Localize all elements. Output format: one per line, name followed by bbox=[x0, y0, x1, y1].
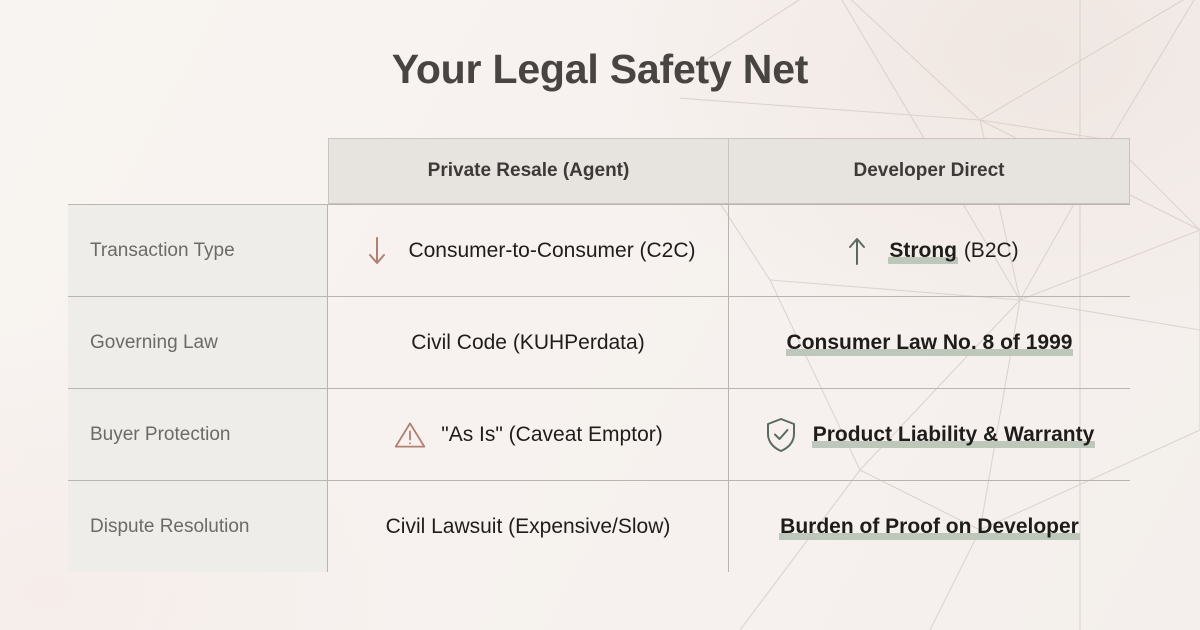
cell-emphasis: Burden of Proof on Developer bbox=[779, 515, 1080, 539]
table-row: Buyer Protection "As Is" (Caveat Emptor) bbox=[68, 388, 1130, 480]
cell-private-resale-transaction-type: Consumer-to-Consumer (C2C) bbox=[328, 205, 729, 296]
cell-text: Consumer-to-Consumer (C2C) bbox=[408, 239, 695, 263]
cell-developer-direct-buyer-protection: Product Liability & Warranty bbox=[729, 389, 1130, 480]
cell-private-resale-buyer-protection: "As Is" (Caveat Emptor) bbox=[328, 389, 729, 480]
cell-emphasis: Product Liability & Warranty bbox=[812, 423, 1096, 447]
cell-developer-direct-dispute-resolution: Burden of Proof on Developer bbox=[729, 481, 1130, 572]
cell-text: Civil Lawsuit (Expensive/Slow) bbox=[386, 515, 671, 539]
table-header-private-resale: Private Resale (Agent) bbox=[328, 138, 729, 204]
row-label-governing-law: Governing Law bbox=[68, 297, 328, 388]
page-title: Your Legal Safety Net bbox=[0, 46, 1200, 93]
cell-suffix: (B2C) bbox=[958, 239, 1019, 262]
table-header-row: Private Resale (Agent) Developer Direct bbox=[68, 138, 1130, 204]
row-label-dispute-resolution: Dispute Resolution bbox=[68, 481, 328, 572]
cell-text: Strong (B2C) bbox=[888, 239, 1018, 263]
table-row: Governing Law Civil Code (KUHPerdata) Co… bbox=[68, 296, 1130, 388]
table-header-corner-cell bbox=[68, 138, 328, 204]
cell-text: Burden of Proof on Developer bbox=[779, 515, 1080, 539]
table-row: Transaction Type Consumer-to-Consumer (C… bbox=[68, 204, 1130, 296]
arrow-down-icon bbox=[360, 233, 394, 269]
table-row: Dispute Resolution Civil Lawsuit (Expens… bbox=[68, 480, 1130, 572]
row-label-buyer-protection: Buyer Protection bbox=[68, 389, 328, 480]
cell-emphasis: Strong bbox=[888, 239, 958, 263]
cell-text: Product Liability & Warranty bbox=[812, 423, 1096, 447]
shield-check-icon bbox=[764, 417, 798, 453]
cell-text: "As Is" (Caveat Emptor) bbox=[441, 423, 662, 447]
arrow-up-icon bbox=[840, 233, 874, 269]
comparison-table: Private Resale (Agent) Developer Direct … bbox=[68, 138, 1130, 572]
cell-private-resale-governing-law: Civil Code (KUHPerdata) bbox=[328, 297, 729, 388]
cell-developer-direct-transaction-type: Strong (B2C) bbox=[729, 205, 1130, 296]
cell-text: Civil Code (KUHPerdata) bbox=[411, 331, 644, 355]
warning-triangle-icon bbox=[393, 417, 427, 453]
cell-text: Consumer Law No. 8 of 1999 bbox=[786, 331, 1074, 355]
cell-developer-direct-governing-law: Consumer Law No. 8 of 1999 bbox=[729, 297, 1130, 388]
slide-canvas: Your Legal Safety Net Private Resale (Ag… bbox=[0, 0, 1200, 630]
table-header-developer-direct: Developer Direct bbox=[729, 138, 1130, 204]
row-label-transaction-type: Transaction Type bbox=[68, 205, 328, 296]
cell-emphasis: Consumer Law No. 8 of 1999 bbox=[786, 331, 1074, 355]
cell-private-resale-dispute-resolution: Civil Lawsuit (Expensive/Slow) bbox=[328, 481, 729, 572]
